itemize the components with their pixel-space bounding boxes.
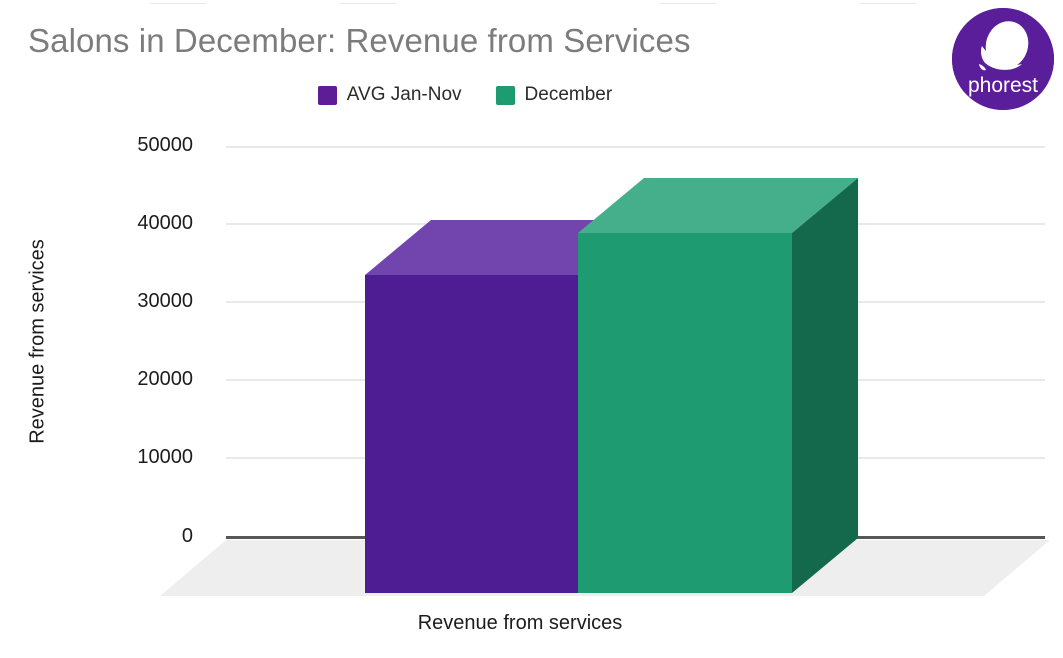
y-tick-50000: 50000 [43, 134, 193, 157]
bar-december[interactable] [578, 178, 858, 593]
y-tick-10000: 10000 [43, 446, 193, 469]
bar-avg-jan-nov-front [365, 275, 579, 593]
x-axis-title: Revenue from services [170, 612, 870, 635]
y-axis-title: Revenue from services [27, 212, 50, 472]
bar-december-side [792, 178, 858, 593]
y-tick-30000: 30000 [43, 290, 193, 313]
bar-december-front [578, 233, 792, 593]
y-tick-0: 0 [43, 525, 193, 548]
y-tick-40000: 40000 [43, 212, 193, 235]
chart-canvas: Salons in December: Revenue from Service… [0, 0, 1063, 658]
y-axis-labels: 50000 40000 30000 20000 10000 0 [28, 0, 193, 658]
y-tick-20000: 20000 [43, 368, 193, 391]
